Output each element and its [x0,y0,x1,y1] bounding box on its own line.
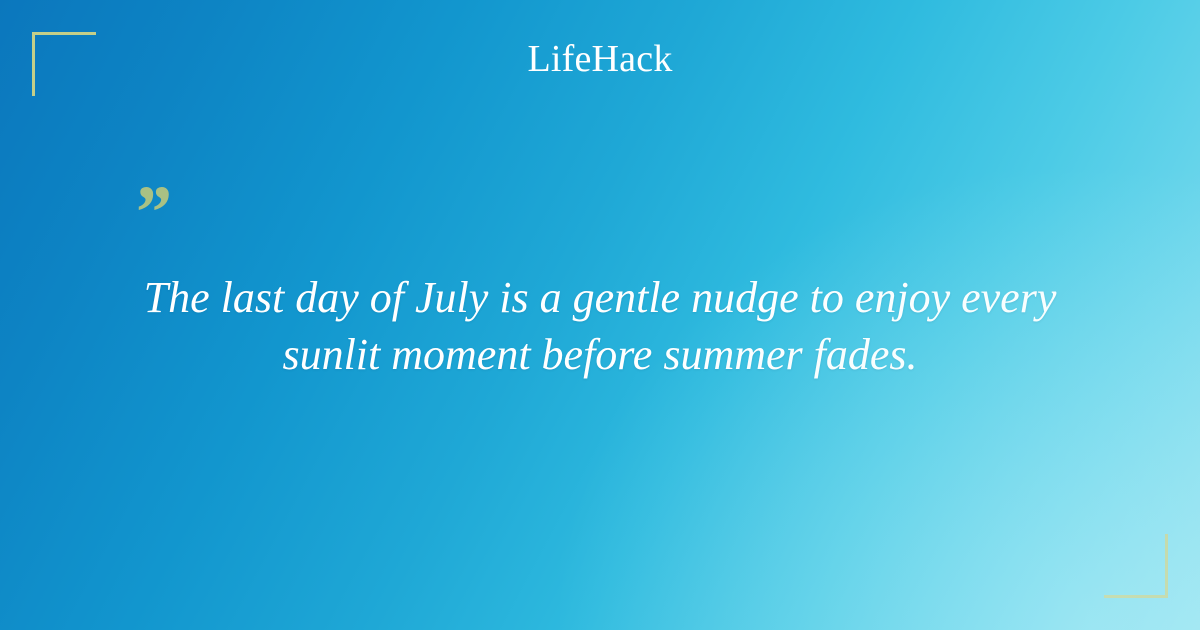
corner-bracket-bottom-right-horizontal-bar [1104,595,1168,598]
quote-block: ” The last day of July is a gentle nudge… [100,185,1100,383]
corner-bracket-top-left-horizontal-bar [32,32,96,35]
quote-mark-icon: ” [132,185,1100,243]
corner-bracket-bottom-right-vertical-bar [1165,534,1168,598]
quote-text: The last day of July is a gentle nudge t… [100,269,1100,383]
brand-logo: LifeHack [0,40,1200,78]
quote-card: LifeHack ” The last day of July is a gen… [0,0,1200,630]
corner-bracket-bottom-right [1104,534,1168,598]
